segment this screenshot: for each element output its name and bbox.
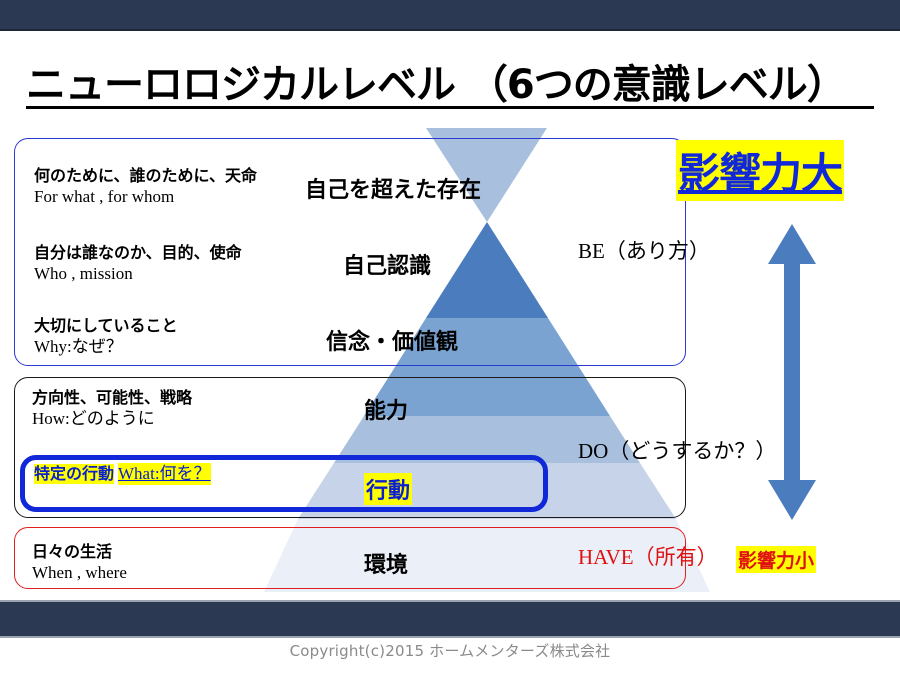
level-name-behavior: 行動	[364, 473, 412, 505]
title-underline	[26, 106, 874, 109]
copyright-footer: Copyright(c)2015 ホームメンターズ株式会社	[0, 640, 900, 661]
level-desc-en: How:どのように	[32, 408, 192, 430]
level-name-capability: 能力	[364, 393, 408, 425]
level-desc-en: When , where	[32, 562, 127, 584]
level-name-environment: 環境	[364, 547, 408, 579]
level-name-identity: 自己認識	[343, 248, 431, 280]
level-desc-en: Why:なぜ？	[34, 336, 178, 358]
level-desc-spiritual: 何のために、誰のために、天命 For what , for whom	[34, 166, 257, 208]
level-desc-identity: 自分は誰なのか、目的、使命 Who , mission	[34, 243, 242, 285]
level-desc-beliefs: 大切にしていること Why:なぜ？	[34, 316, 178, 358]
level-desc-jp: 何のために、誰のために、天命	[34, 166, 257, 186]
level-name-spiritual: 自己を超えた存在	[305, 172, 481, 204]
slide-canvas: ニューロロジカルレベル （6つの意識レベル） 何のために、誰のために、天命 Fo…	[0, 0, 900, 674]
level-name-beliefs: 信念・価値観	[326, 324, 458, 356]
influence-low-label: 影響力小	[736, 546, 816, 573]
page-title: ニューロロジカルレベル （6つの意識レベル）	[26, 52, 876, 110]
influence-high-label: 影響力大	[676, 140, 844, 201]
group-label-have: HAVE（所有）	[578, 541, 718, 571]
behavior-emphasis-box	[20, 455, 548, 512]
group-label-do: DO（どうするか？）	[578, 435, 776, 465]
level-desc-en: For what , for whom	[34, 186, 257, 208]
level-desc-capability: 方向性、可能性、戦略 How:どのように	[32, 388, 192, 430]
level-desc-jp: 日々の生活	[32, 542, 127, 562]
level-desc-environment: 日々の生活 When , where	[32, 542, 127, 584]
level-desc-jp: 方向性、可能性、戦略	[32, 388, 192, 408]
level-desc-en: Who , mission	[34, 263, 242, 285]
top-accent-bar	[0, 0, 900, 31]
level-desc-jp: 大切にしていること	[34, 316, 178, 336]
group-label-be: BE（あり方）	[578, 235, 710, 265]
influence-double-arrow	[760, 222, 824, 522]
level-desc-jp: 自分は誰なのか、目的、使命	[34, 243, 242, 263]
bottom-accent-bar	[0, 600, 900, 638]
